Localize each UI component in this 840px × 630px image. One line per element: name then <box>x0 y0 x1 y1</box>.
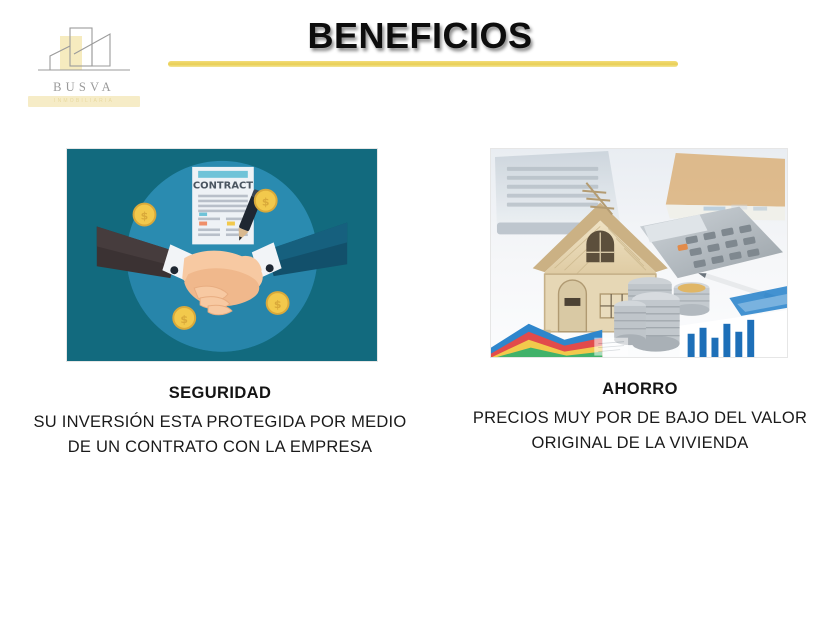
coin-icon-bottom-right: $ <box>267 292 289 314</box>
slide-canvas: BUSVA INMOBILIARIA BENEFICIOS CONTRACT <box>0 0 840 630</box>
benefit-body: SU INVERSIÓN ESTA PROTEGIDA POR MEDIO DE… <box>20 410 420 460</box>
benefit-body: PRECIOS MUY POR DE BAJO DEL VALOR ORIGIN… <box>450 406 830 456</box>
coin-icon-top-right: $ <box>255 190 277 212</box>
handshake-contract-illustration: CONTRACT <box>66 148 378 362</box>
brand-name: BUSVA <box>24 80 144 95</box>
house-coins-calculator-photo <box>490 148 788 358</box>
svg-text:CONTRACT: CONTRACT <box>193 181 253 192</box>
coin-icon-bottom-left: $ <box>173 307 195 329</box>
paper-notes <box>594 338 628 356</box>
page-title: BENEFICIOS <box>170 17 670 55</box>
handshake-contract-svg: CONTRACT <box>67 149 377 362</box>
brand-tagline: INMOBILIARIA <box>28 96 140 107</box>
benefit-card-seguridad: CONTRACT <box>20 148 420 460</box>
benefit-caption-seguridad: SEGURIDAD SU INVERSIÓN ESTA PROTEGIDA PO… <box>20 384 420 460</box>
svg-text:$: $ <box>274 298 282 311</box>
svg-text:$: $ <box>141 210 149 223</box>
title-underline-rule <box>168 61 678 67</box>
svg-text:$: $ <box>262 196 270 209</box>
benefit-caption-ahorro: AHORRO PRECIOS MUY POR DE BAJO DEL VALOR… <box>450 380 830 456</box>
benefit-title: SEGURIDAD <box>20 384 420 404</box>
house-coins-calculator-svg <box>491 149 787 358</box>
coin-icon-top-left: $ <box>134 204 156 226</box>
building-outline-icon <box>30 26 138 82</box>
benefit-title: AHORRO <box>450 380 830 400</box>
svg-text:$: $ <box>180 313 188 326</box>
brand-logo: BUSVA INMOBILIARIA <box>24 26 144 108</box>
benefit-card-ahorro: AHORRO PRECIOS MUY POR DE BAJO DEL VALOR… <box>450 148 830 456</box>
